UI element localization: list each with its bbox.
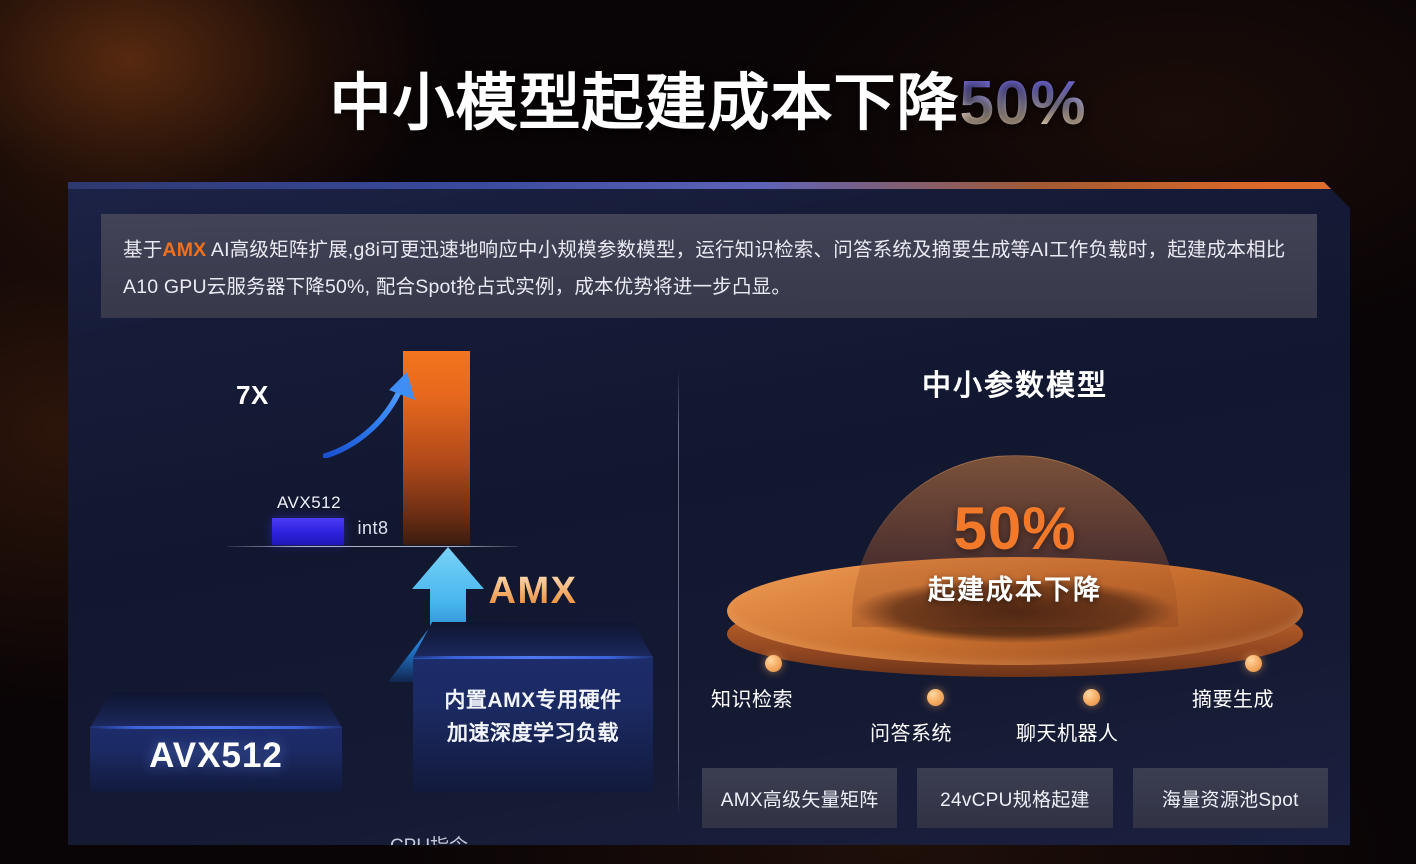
description-box: 基于AMX AI高级矩阵扩展,g8i可更迅速地响应中小规模参数模型，运行知识检索…	[101, 214, 1317, 318]
cpu-upgrade-label: CPU指令 升级	[364, 832, 494, 864]
feature-tag-2[interactable]: 海量资源池Spot	[1133, 768, 1328, 828]
platform-amx: AMX 内置AMX专用硬件 加速深度学习负载	[413, 622, 653, 792]
node-dot-2	[1083, 689, 1100, 706]
right-panel: 中小参数模型 50% 起建成本下降 知识检索 问答系统 聊天机器人 摘要生成 A…	[680, 332, 1350, 845]
feature-tag-1[interactable]: 24vCPU规格起建	[917, 768, 1112, 828]
platform-amx-top	[413, 622, 653, 658]
cpu-upgrade-label-line1: CPU指令	[390, 836, 468, 857]
description-prefix: 基于	[123, 239, 162, 261]
page-title-main: 中小模型起建成本下降	[329, 69, 959, 138]
right-panel-heading: 中小参数模型	[680, 362, 1350, 404]
disc-percent-caption: 起建成本下降	[852, 568, 1178, 607]
page-title-highlight: 50%	[959, 69, 1086, 138]
performance-bar-chart: AMX AVX512 int8 7X	[228, 332, 528, 547]
platform-avx512-top	[90, 692, 342, 728]
card-top-accent-bar	[68, 182, 1350, 189]
description-highlight: AMX	[162, 239, 206, 261]
platform-amx-subtitle-line2: 加速深度学习负载	[447, 722, 619, 745]
node-dot-1	[927, 689, 944, 706]
disc-percent-value: 50%	[852, 494, 1178, 563]
platform-amx-subtitle: 内置AMX专用硬件 加速深度学习负载	[413, 684, 653, 750]
node-label-1: 问答系统	[870, 717, 952, 746]
platform-avx512-title: AVX512	[90, 736, 342, 776]
left-panel: AMX AVX512 int8 7X	[68, 332, 678, 845]
node-dot-3	[1245, 655, 1262, 672]
model-disc-graphic: 50% 起建成本下降 知识检索 问答系统 聊天机器人 摘要生成	[705, 427, 1325, 767]
feature-tag-list: AMX高级矢量矩阵 24vCPU规格起建 海量资源池Spot	[702, 768, 1328, 828]
page-title: 中小模型起建成本下降50%	[0, 52, 1416, 142]
chart-x-axis-label: int8	[318, 518, 428, 539]
platform-amx-title: AMX	[413, 570, 653, 613]
curved-growth-arrow-icon	[323, 370, 433, 458]
small-curved-arrow-icon	[450, 857, 514, 864]
disc-dome: 50% 起建成本下降	[852, 455, 1178, 627]
panel-divider	[678, 372, 679, 812]
node-label-0: 知识检索	[711, 683, 793, 712]
platform-avx512: AVX512	[90, 692, 342, 792]
node-label-2: 聊天机器人	[1016, 717, 1119, 746]
poster-root: 中小模型起建成本下降50% 基于AMX AI高级矩阵扩展,g8i可更迅速地响应中…	[0, 0, 1416, 864]
node-label-3: 摘要生成	[1192, 683, 1274, 712]
feature-tag-0[interactable]: AMX高级矢量矩阵	[702, 768, 897, 828]
platform-amx-subtitle-line1: 内置AMX专用硬件	[444, 689, 621, 712]
content-card: 基于AMX AI高级矩阵扩展,g8i可更迅速地响应中小规模参数模型，运行知识检索…	[68, 182, 1350, 845]
bar-avx-label: AVX512	[254, 493, 364, 513]
chart-multiplier-label: 7X	[236, 380, 269, 411]
description-rest: AI高级矩阵扩展,g8i可更迅速地响应中小规模参数模型，运行知识检索、问答系统及…	[123, 239, 1285, 298]
node-dot-0	[765, 655, 782, 672]
